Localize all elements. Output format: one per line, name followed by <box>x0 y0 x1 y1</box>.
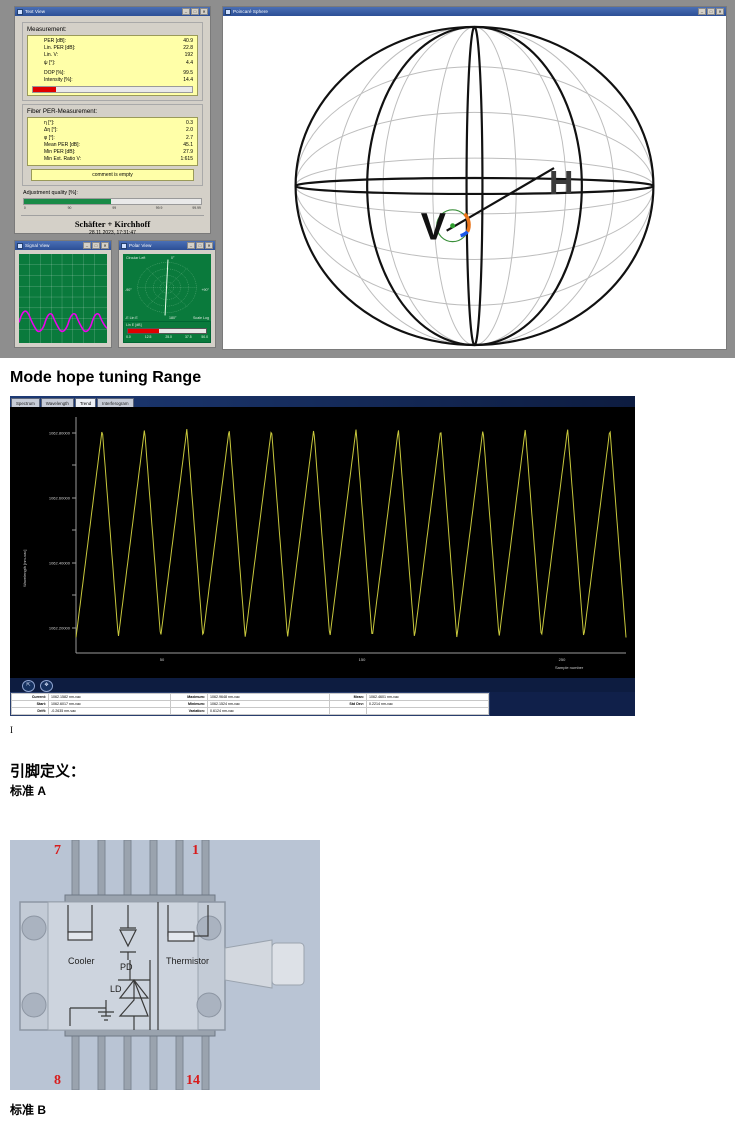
component-label-thermistor: Thermistor <box>166 956 209 966</box>
pin-number-14: 14 <box>186 1073 200 1088</box>
row-label: PER [dB]: <box>32 38 66 45</box>
measurement-timestamp: 28.11.2023, 17:31:47 <box>21 230 204 236</box>
row-label: η [°]: <box>32 120 54 127</box>
polar-label-top: 0° <box>171 256 174 260</box>
polar-label-left: -90° <box>125 288 132 292</box>
polarimeter-software-screenshot: Text View – □ ✕ Measurement: PER [dB]: 4… <box>0 0 735 358</box>
laser-diode-pin-diagram: Cooler PD Thermistor LD 7 1 8 14 <box>10 840 320 1090</box>
minimize-icon[interactable]: – <box>187 242 195 249</box>
row-value: 99.5 <box>183 70 193 77</box>
text-view-window-buttons[interactable]: – □ ✕ <box>182 8 208 15</box>
polarization-polar-plot: Circular Left 0° -90° +90° 180° Scale Lo… <box>123 254 211 321</box>
pin-definition-heading: 引脚定义： <box>10 760 85 781</box>
adjustment-quality-fill <box>24 199 111 204</box>
lin-e-bar-panel: Lin E [dB] 0.0 12.5 25.0 37.5 50.0 <box>123 321 211 343</box>
x-tick: 150 <box>359 657 366 662</box>
close-icon[interactable]: ✕ <box>205 242 213 249</box>
text-caret: I <box>10 725 13 735</box>
adjustment-quality-bar <box>23 198 202 205</box>
stat-value <box>367 708 489 715</box>
fiber-per-row: Min PER [dB]: 27.9 <box>32 149 193 156</box>
stat-label: Maximum: <box>171 694 208 701</box>
app-icon <box>225 9 231 15</box>
x-tick: 50 <box>160 657 164 662</box>
close-icon[interactable]: ✕ <box>200 8 208 15</box>
measurement-row: Lin. V: 192 <box>32 52 193 59</box>
signal-view-titlebar[interactable]: Signal View – □ ✕ <box>15 241 111 250</box>
polar-view-title: Polar View <box>129 243 185 248</box>
brand-footer: Schäfter + Kirchhoff 28.11.2023, 17:31:4… <box>21 215 204 236</box>
stat-value: 0.2214 nm-vac <box>367 701 489 708</box>
axis-label-v: V <box>421 207 446 249</box>
wavelength-trend-screenshot: Spectrum Wavelength Trend Interferogram … <box>10 396 635 716</box>
app-icon <box>17 9 23 15</box>
bar-tick: 25.0 <box>165 335 172 339</box>
close-icon[interactable]: ✕ <box>101 242 109 249</box>
stat-value: 1062.4601 nm-vac <box>367 694 489 701</box>
trend-curve-svg <box>10 407 635 678</box>
measurement-row: PER [dB]: 40.9 <box>32 38 193 45</box>
maximize-icon[interactable]: □ <box>707 8 715 15</box>
table-row: Start: 1062.6017 nm-vac Minimum: 1062.15… <box>12 701 489 708</box>
polar-view-window-buttons[interactable]: – □ ✕ <box>187 242 213 249</box>
table-row: Drift: -0.2635 nm-vac Variation: 0.6124 … <box>12 708 489 715</box>
lin-e-bar-fill <box>128 329 159 333</box>
row-value: 40.9 <box>183 38 193 45</box>
bar-tick: 37.5 <box>185 335 192 339</box>
row-label: Intensity [%]: <box>32 77 73 84</box>
measurement-group: Measurement: PER [dB]: 40.9 Lin. PER [dB… <box>22 22 203 101</box>
signal-waveform-plot <box>19 254 107 343</box>
row-label: Mean PER [dB]: <box>32 142 80 149</box>
row-label: ψ [°]: <box>32 60 55 67</box>
stat-value: 1062.9648 nm-vac <box>208 694 330 701</box>
maximize-icon[interactable]: □ <box>191 8 199 15</box>
poincare-sphere-svg: H V <box>225 19 724 347</box>
signal-curve <box>19 311 107 331</box>
row-label: DOP [%]: <box>32 70 65 77</box>
component-label-pd: PD <box>120 962 133 972</box>
fiber-per-group: Fiber PER-Measurement: η [°]: 0.3 Δη [°]… <box>22 104 203 186</box>
mode-hope-heading: Mode hope tuning Range <box>10 369 201 387</box>
lin-e-bar-title: Lin E [dB] <box>124 322 210 327</box>
measurement-values: PER [dB]: 40.9 Lin. PER [dB]: 22.8 Lin. … <box>27 35 198 96</box>
scale-tick: 99.99 <box>192 206 201 210</box>
minimize-icon[interactable]: – <box>698 8 706 15</box>
row-value: 192 <box>185 52 193 59</box>
measurement-row: ψ [°]: 4.4 <box>32 60 193 67</box>
scale-tick: 90 <box>68 206 72 210</box>
row-label: Δη [°]: <box>32 127 58 134</box>
tab-wavelength[interactable]: Wavelength <box>41 398 74 407</box>
polar-scale-label: Scale Log <box>193 316 209 320</box>
tab-spectrum[interactable]: Spectrum <box>11 398 40 407</box>
axis-label-h: H <box>549 164 573 202</box>
trend-statistics-table: Current: 1062.1582 nm-vac Maximum: 1062.… <box>10 692 490 716</box>
row-label: Lin. PER [dB]: <box>32 45 75 52</box>
row-label: φ [°]: <box>32 135 55 142</box>
stat-label: Variation: <box>171 708 208 715</box>
text-view-title: Text View <box>25 9 180 14</box>
stat-label: Start: <box>12 701 49 708</box>
stat-value: 1062.1582 nm-vac <box>49 694 171 701</box>
row-value: 45.1 <box>183 142 193 149</box>
brand-name: Schäfter + Kirchhoff <box>21 219 204 229</box>
measurement-title: Measurement: <box>27 26 198 33</box>
fiber-per-row: Δη [°]: 2.0 <box>32 127 193 134</box>
row-value: 2.7 <box>186 135 193 142</box>
polar-view-titlebar[interactable]: Polar View – □ ✕ <box>119 241 215 250</box>
table-row: Current: 1062.1582 nm-vac Maximum: 1062.… <box>12 694 489 701</box>
polar-plot-svg <box>123 254 211 321</box>
polar-label-right: +90° <box>201 288 209 292</box>
zoom-fit-icon[interactable]: ⇱ <box>22 680 35 692</box>
poincare-window-buttons[interactable]: – □ ✕ <box>698 8 724 15</box>
component-label-ld: LD <box>110 984 122 994</box>
intensity-bar <box>32 86 193 93</box>
row-value: 22.8 <box>183 45 193 52</box>
statistics-table: Current: 1062.1582 nm-vac Maximum: 1062.… <box>11 693 489 715</box>
bar-tick: 0.0 <box>126 335 131 339</box>
signal-view-title: Signal View <box>25 243 81 248</box>
adjustment-quality-title: Adjustment quality [%]: <box>23 190 202 196</box>
adjustment-quality: Adjustment quality [%]: 0 90 99 99.9 99.… <box>23 190 202 213</box>
fiber-per-row: Mean PER [dB]: 45.1 <box>32 142 193 149</box>
standard-b-heading: 标准 B <box>10 1101 46 1118</box>
fiber-per-title: Fiber PER-Measurement: <box>27 108 198 115</box>
stat-label: Drift: <box>12 708 49 715</box>
lin-e-bar <box>127 328 207 334</box>
pin-number-8: 8 <box>54 1073 61 1088</box>
wavelength-trend-line <box>76 429 626 638</box>
signal-waveform-svg <box>19 254 107 343</box>
x-tick: 250 <box>559 657 566 662</box>
stat-label: Std Dev: <box>330 701 367 708</box>
intensity-bar-fill <box>33 87 56 92</box>
poincare-titlebar[interactable]: Poincaré Sphere – □ ✕ <box>223 7 726 16</box>
stat-value: 0.6124 nm-vac <box>208 708 330 715</box>
chart-tabs[interactable]: Spectrum Wavelength Trend Interferogram <box>11 396 134 407</box>
stat-value: -0.2635 nm-vac <box>49 708 171 715</box>
row-value: 2.0 <box>186 127 193 134</box>
row-value: 27.9 <box>183 149 193 156</box>
window-polar-view[interactable]: Polar View – □ ✕ <box>118 240 216 348</box>
close-icon[interactable]: ✕ <box>716 8 724 15</box>
row-value: 1:615 <box>180 156 193 163</box>
chart-toolbar[interactable]: ⇱ ✥ <box>10 678 635 692</box>
text-view-titlebar[interactable]: Text View – □ ✕ <box>15 7 210 16</box>
window-text-view[interactable]: Text View – □ ✕ Measurement: PER [dB]: 4… <box>14 6 211 234</box>
scale-tick: 99.9 <box>156 206 163 210</box>
text-view-body: Measurement: PER [dB]: 40.9 Lin. PER [dB… <box>18 19 207 230</box>
polar-label-bottom: 180° <box>169 316 176 320</box>
stat-label: Minimum: <box>171 701 208 708</box>
row-label: Min PER [dB]: <box>32 149 75 156</box>
state-point <box>450 223 455 228</box>
fiber-per-row: Min Ext. Ratio V: 1:615 <box>32 156 193 163</box>
row-label: Min Ext. Ratio V: <box>32 156 81 163</box>
row-label: Lin. V: <box>32 52 58 59</box>
poincare-title: Poincaré Sphere <box>233 9 696 14</box>
scale-tick: 0 <box>24 206 26 210</box>
lin-e-bar-ticks: 0.0 12.5 25.0 37.5 50.0 <box>126 335 208 341</box>
measurement-row: Lin. PER [dB]: 22.8 <box>32 45 193 52</box>
trend-plot-area: Wavelength [nm-vac] 1062.80000 1062.6000… <box>10 407 635 678</box>
stat-value: 1062.6017 nm-vac <box>49 701 171 708</box>
bar-tick: 12.5 <box>145 335 152 339</box>
scale-tick: 99 <box>112 206 116 210</box>
x-axis-label: Sample number <box>555 665 583 670</box>
component-label-cooler: Cooler <box>68 956 95 966</box>
adjustment-quality-scale: 0 90 99 99.9 99.99 <box>23 206 202 213</box>
tab-interferogram[interactable]: Interferogram <box>97 398 133 407</box>
fiber-per-row: φ [°]: 2.7 <box>32 135 193 142</box>
stat-value: 1062.1524 nm-vac <box>208 701 330 708</box>
window-poincare-sphere[interactable]: Poincaré Sphere – □ ✕ <box>222 6 727 350</box>
app-icon <box>17 243 23 249</box>
standard-a-heading: 标准 A <box>10 782 46 799</box>
fiber-per-values: η [°]: 0.3 Δη [°]: 2.0 φ [°]: 2.7 Mean P… <box>27 117 198 166</box>
row-value: 4.4 <box>186 60 193 67</box>
signal-view-window-buttons[interactable]: – □ ✕ <box>83 242 109 249</box>
polar-mode-label: Circular Left <box>126 256 145 260</box>
pin-number-1: 1 <box>192 843 199 858</box>
app-icon <box>121 243 127 249</box>
stat-label: Mean: <box>330 694 367 701</box>
row-value: 14.4 <box>183 77 193 84</box>
pin-diagram-svg: Cooler PD Thermistor LD 7 1 8 14 <box>10 840 320 1090</box>
maximize-icon[interactable]: □ <box>92 242 100 249</box>
polar-corner-label: -E Lin E <box>125 316 138 320</box>
stat-label: Current: <box>12 694 49 701</box>
window-signal-view[interactable]: Signal View – □ ✕ <box>14 240 112 348</box>
minimize-icon[interactable]: – <box>83 242 91 249</box>
row-value: 0.3 <box>186 120 193 127</box>
maximize-icon[interactable]: □ <box>196 242 204 249</box>
poincare-sphere-plot: H V <box>225 19 724 347</box>
fiber-per-row: η [°]: 0.3 <box>32 120 193 127</box>
pan-icon[interactable]: ✥ <box>40 680 53 692</box>
stat-label <box>330 708 367 715</box>
comment-field[interactable]: comment is empty <box>31 169 194 181</box>
tab-trend[interactable]: Trend <box>75 398 96 407</box>
measurement-row: DOP [%]: 99.5 <box>32 70 193 77</box>
bar-tick: 50.0 <box>201 335 208 339</box>
measurement-row: Intensity [%]: 14.4 <box>32 77 193 84</box>
pin-number-7: 7 <box>54 843 61 858</box>
minimize-icon[interactable]: – <box>182 8 190 15</box>
